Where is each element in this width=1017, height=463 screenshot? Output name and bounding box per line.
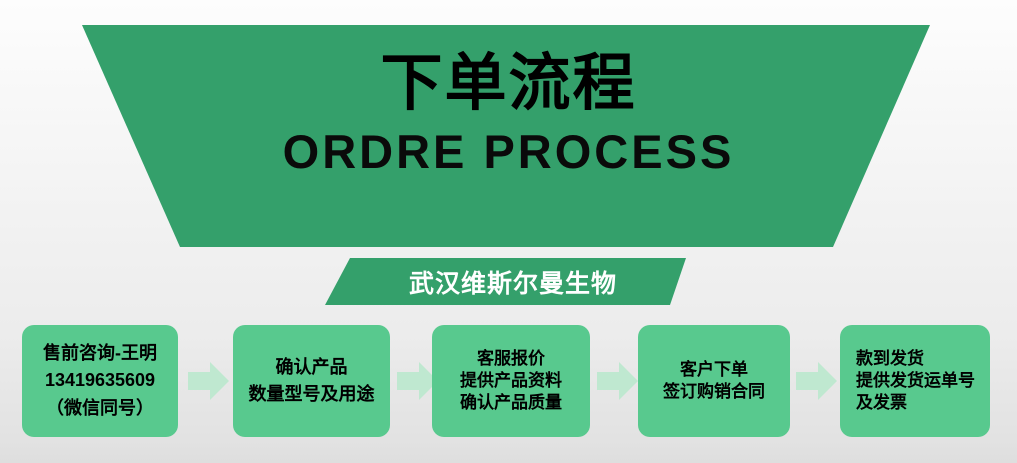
process-step-line: （微信同号） <box>46 395 154 422</box>
arrow-right-icon <box>597 361 639 401</box>
process-step-1[interactable]: 售前咨询-王明 13419635609 （微信同号） <box>22 325 178 437</box>
arrow-right-icon <box>796 361 838 401</box>
process-step-line: 提供发货运单号 <box>856 370 975 392</box>
arrow-right-icon <box>188 361 230 401</box>
process-flow-row: 售前咨询-王明 13419635609 （微信同号） 确认产品 数量型号及用途 … <box>0 325 1017 437</box>
process-step-line: 数量型号及用途 <box>249 381 375 408</box>
process-step-line: 确认产品质量 <box>460 392 562 414</box>
process-step-line: 售前咨询-王明 <box>43 340 157 367</box>
process-step-line: 签订购销合同 <box>663 381 765 403</box>
process-step-2[interactable]: 确认产品 数量型号及用途 <box>233 325 390 437</box>
header-banner: 下单流程 ORDRE PROCESS <box>0 25 1017 248</box>
process-step-line: 款到发货 <box>856 348 924 370</box>
header-text-group: 下单流程 ORDRE PROCESS <box>0 25 1017 248</box>
process-step-line: 13419635609 <box>45 367 155 394</box>
process-step-line: 客服报价 <box>477 348 545 370</box>
process-step-line: 确认产品 <box>276 354 348 381</box>
process-step-line: 及发票 <box>856 392 907 414</box>
company-name-label: 武汉维斯尔曼生物 <box>310 258 710 306</box>
process-step-line: 提供产品资料 <box>460 370 562 392</box>
process-step-4[interactable]: 客户下单 签订购销合同 <box>638 325 790 437</box>
page-title-en: ORDRE PROCESS <box>283 126 735 178</box>
process-step-5[interactable]: 款到发货 提供发货运单号 及发票 <box>840 325 990 437</box>
company-banner: 武汉维斯尔曼生物 <box>310 258 710 306</box>
order-process-infographic: 下单流程 ORDRE PROCESS 武汉维斯尔曼生物 售前咨询-王明 1341… <box>0 0 1017 463</box>
page-title-cn: 下单流程 <box>380 51 636 116</box>
process-step-line: 客户下单 <box>680 359 748 381</box>
process-step-3[interactable]: 客服报价 提供产品资料 确认产品质量 <box>432 325 590 437</box>
